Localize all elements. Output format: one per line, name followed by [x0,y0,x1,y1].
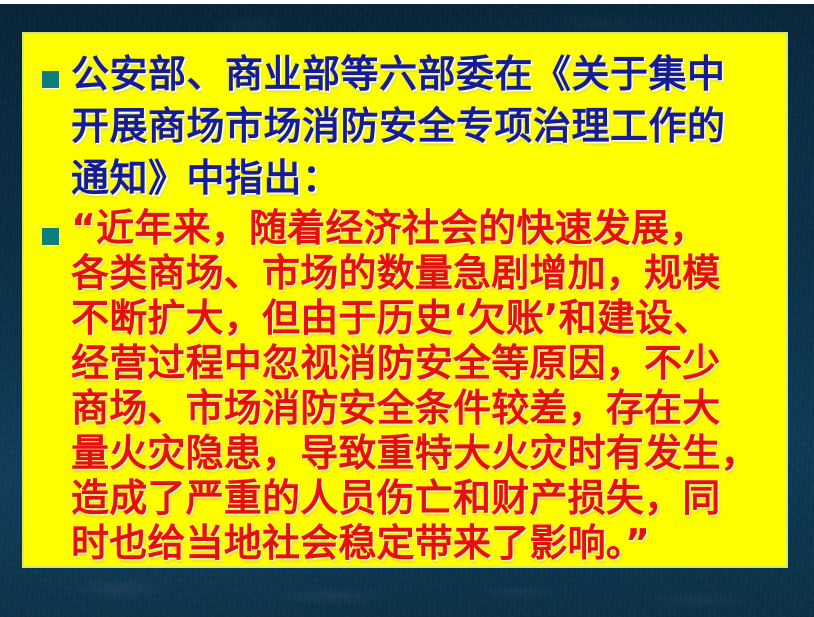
bullet-item-heading: 公安部、商业部等六部委在《关于集中 开展商场市场消防安全专项治理工作的 通知》中… [24,48,786,204]
quote-text: “近年来，随着经济社会的快速发展， 各类商场、市场的数量急剧增加，规模 不断扩大… [24,206,786,566]
quote-line-4: 经营过程中忽视消防安全等原因，不少 [71,341,786,386]
quote-line-6: 量火灾隐患，导致重特大火灾时有发生， [71,431,786,476]
bullet-item-quote: “近年来，随着经济社会的快速发展， 各类商场、市场的数量急剧增加，规模 不断扩大… [24,206,786,566]
quote-line-1: “近年来，随着经济社会的快速发展， [71,206,786,251]
top-white-strip [0,0,814,4]
quote-line-7: 造成了严重的人员伤亡和财产损失，同 [71,476,786,521]
heading-line-3: 通知》中指出： [71,152,786,204]
presentation-slide: 公安部、商业部等六部委在《关于集中 开展商场市场消防安全专项治理工作的 通知》中… [0,0,814,617]
square-bullet-icon [42,71,59,88]
square-bullet-icon [42,228,59,245]
heading-line-2: 开展商场市场消防安全专项治理工作的 [71,100,786,152]
heading-line-1: 公安部、商业部等六部委在《关于集中 [71,48,786,100]
yellow-content-panel: 公安部、商业部等六部委在《关于集中 开展商场市场消防安全专项治理工作的 通知》中… [22,32,788,568]
quote-line-2: 各类商场、市场的数量急剧增加，规模 [71,251,786,296]
quote-line-3: 不断扩大，但由于历史‘欠账’和建设、 [71,296,786,341]
heading-text: 公安部、商业部等六部委在《关于集中 开展商场市场消防安全专项治理工作的 通知》中… [24,48,786,204]
quote-line-5: 商场、市场消防安全条件较差，存在大 [71,386,786,431]
quote-line-8: 时也给当地社会稳定带来了影响。” [71,521,786,566]
